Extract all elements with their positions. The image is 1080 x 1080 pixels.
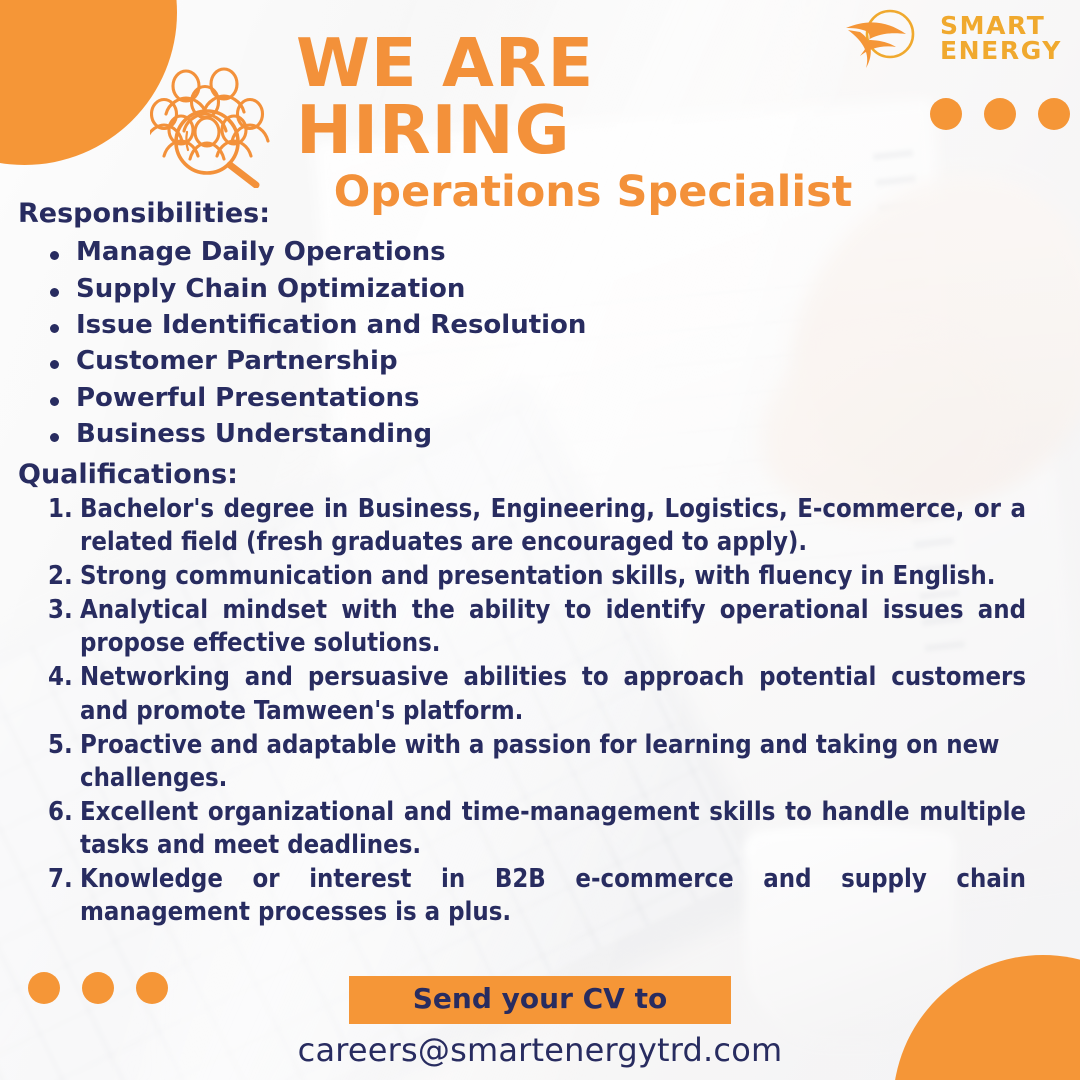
responsibilities-list: Manage Daily Operations Supply Chain Opt… [18,234,1026,452]
logo-line-1: SMART [940,13,1062,39]
list-item-text: Analytical mindset with the ability to i… [80,594,1026,660]
list-item: Customer Partnership [18,343,1026,379]
list-item-text: Bachelor's degree in Business, Engineeri… [80,493,1026,559]
list-item-text: Proactive and adaptable with a passion f… [80,729,1026,795]
list-item: Business Understanding [18,416,1026,452]
page-title: WE ARE HIRING [296,30,890,164]
list-item: Networking and persuasive abilities to a… [18,661,1026,727]
logo-line-2: ENERGY [940,38,1062,64]
list-item: Excellent organizational and time-manage… [18,796,1026,862]
responsibilities-heading: Responsibilities: [18,196,1026,232]
list-item: Proactive and adaptable with a passion f… [18,729,1026,795]
list-item: Manage Daily Operations [18,234,1026,270]
list-item-text: Strong communication and presentation sk… [80,560,1026,593]
list-item-text: Excellent organizational and time-manage… [80,796,1026,862]
list-item: Bachelor's degree in Business, Engineeri… [18,493,1026,559]
list-item: Analytical mindset with the ability to i… [18,594,1026,660]
qualifications-heading: Qualifications: [18,457,1026,493]
decorative-dot [984,98,1016,130]
list-item: Strong communication and presentation sk… [18,560,1026,593]
list-item: Knowledge or interest in B2B e-commerce … [18,863,1026,929]
call-to-action: Send your CV to careers@smartenergytrd.c… [0,976,1080,1069]
poster-content: Responsibilities: Manage Daily Operation… [18,196,1026,931]
decorative-dot [930,98,962,130]
people-search-recruitment-icon [150,62,282,188]
hiring-poster: SMART ENERGY [0,0,1080,1080]
poster-header: WE ARE HIRING Operations Specialist [150,52,890,192]
list-item: Supply Chain Optimization [18,271,1026,307]
list-item: Powerful Presentations [18,380,1026,416]
list-item-text: Networking and persuasive abilities to a… [80,661,1026,727]
qualifications-list: Bachelor's degree in Business, Engineeri… [18,493,1026,930]
brand-logo-text: SMART ENERGY [940,13,1062,64]
send-cv-badge: Send your CV to [349,976,731,1024]
list-item: Issue Identification and Resolution [18,307,1026,343]
decorative-dots-top-right [930,98,1070,130]
list-item-text: Knowledge or interest in B2B e-commerce … [80,863,1026,929]
decorative-dot [1038,98,1070,130]
careers-email[interactable]: careers@smartenergytrd.com [0,1031,1080,1069]
